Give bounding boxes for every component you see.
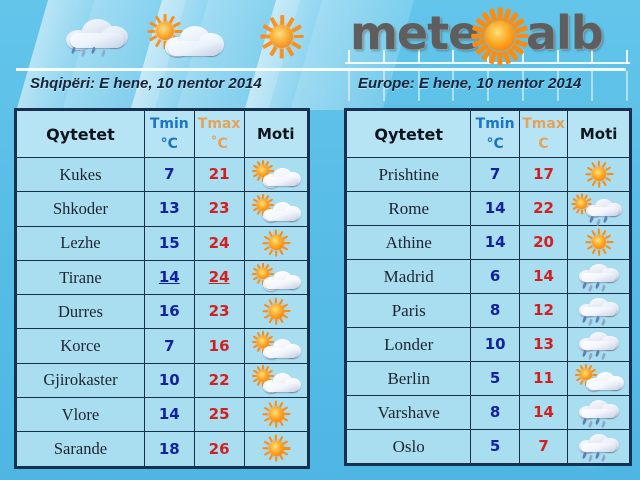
tmin-cell: 14: [144, 398, 194, 432]
tmin-value: 10: [485, 335, 506, 353]
tmin-value: 14: [159, 268, 180, 286]
column-header-city: Qytetet: [16, 110, 145, 158]
tmax-cell: 13: [519, 328, 567, 362]
tmin-value: 14: [159, 405, 180, 423]
tmax-value: 24: [209, 268, 230, 286]
tmin-cell: 13: [144, 192, 194, 226]
europe-table-body: Prishtine717Rome1422Athine1420Madrid614P…: [346, 158, 631, 465]
sun-rain-icon: [570, 194, 628, 224]
tmax-cell: 26: [194, 432, 244, 467]
tmin-value: 5: [490, 369, 500, 387]
column-header-moti: Moti: [568, 110, 631, 158]
tmin-value: 13: [159, 199, 180, 217]
europe-date-heading: Europe: E hene, 10 nentor 2014: [358, 75, 581, 92]
tmin-cell: 8: [471, 396, 519, 430]
city-label: Varshave: [378, 403, 440, 422]
city-label: Shkoder: [53, 199, 108, 218]
table-header-row: Qytetet Tmin °C Tmax C Moti: [346, 110, 631, 158]
tmin-value: 5: [490, 437, 500, 455]
partly-cloudy-icon: [247, 160, 305, 190]
city-label: Lezhe: [60, 233, 100, 252]
tmin-cell: 14: [471, 192, 519, 226]
tmax-cell: 22: [194, 363, 244, 397]
tmax-value: 24: [209, 234, 230, 252]
city-label: Kukes: [59, 165, 101, 184]
column-header-tmax: Tmax C: [519, 110, 567, 158]
table-row: Varshave814: [346, 396, 631, 430]
tmax-value: 23: [209, 302, 230, 320]
tmin-cell: 8: [471, 294, 519, 328]
weather-icon-cell: [244, 295, 308, 329]
tmin-value: 18: [159, 440, 180, 458]
table-row: Lezhe1524: [16, 226, 309, 260]
tmax-value: 21: [209, 165, 230, 183]
sun-icon: [247, 228, 305, 258]
city-cell: Sarande: [16, 432, 145, 467]
city-cell: Berlin: [346, 362, 471, 396]
tmax-cell: 17: [519, 158, 567, 192]
city-label: Madrid: [384, 267, 434, 286]
city-label: Prishtine: [378, 165, 438, 184]
tmax-cell: 25: [194, 398, 244, 432]
tmin-cell: 7: [144, 158, 194, 192]
rain-cloud-icon: [570, 262, 628, 292]
tmin-value: 6: [490, 267, 500, 285]
city-cell: Madrid: [346, 260, 471, 294]
city-label: Oslo: [393, 437, 425, 456]
tmin-cell: 14: [144, 260, 194, 294]
tmax-value: 25: [209, 405, 230, 423]
tmax-cell: 20: [519, 226, 567, 260]
table-row: Prishtine717: [346, 158, 631, 192]
tmax-value: 17: [533, 165, 554, 183]
tmax-value: 22: [533, 199, 554, 217]
city-cell: Londer: [346, 328, 471, 362]
rain-cloud-icon: [52, 16, 142, 63]
table-row: Sarande1826: [16, 432, 309, 467]
table-row: Oslo57: [346, 430, 631, 465]
partly-cloudy-icon: [140, 14, 230, 61]
tmax-cell: 23: [194, 295, 244, 329]
column-header-tmax: Tmax ˚C: [194, 110, 244, 158]
city-cell: Shkoder: [16, 192, 145, 226]
partly-cloudy-icon: [247, 331, 305, 361]
tmax-cell: 24: [194, 260, 244, 294]
city-label: Rome: [388, 199, 429, 218]
tmin-value: 8: [490, 403, 500, 421]
tmin-value: 16: [159, 302, 180, 320]
albania-table-body: Kukes721Shkoder1323Lezhe1524Tirane1424Du…: [16, 158, 309, 468]
rain-cloud-icon: [570, 330, 628, 360]
tmax-cell: 14: [519, 260, 567, 294]
weather-icon-cell: [568, 226, 631, 260]
column-header-tmin: Tmin °C: [471, 110, 519, 158]
tmax-cell: 22: [519, 192, 567, 226]
tmin-cell: 10: [471, 328, 519, 362]
rain-cloud-icon: [52, 16, 142, 63]
tmax-value: 22: [209, 371, 230, 389]
tmax-value: 11: [533, 369, 554, 387]
weather-icon-cell: [244, 329, 308, 363]
city-label: Londer: [384, 335, 433, 354]
sun-icon: [247, 400, 305, 430]
table-row: Athine1420: [346, 226, 631, 260]
weather-icon-cell: [568, 192, 631, 226]
table-row: Berlin511: [346, 362, 631, 396]
table-row: Kukes721: [16, 158, 309, 192]
table-row: Korce716: [16, 329, 309, 363]
albania-weather-table: Qytetet Tmin °C Tmax ˚C Moti Kukes721Shk…: [14, 108, 310, 469]
weather-icon-cell: [568, 430, 631, 465]
rain-cloud-icon: [570, 296, 628, 326]
rain-cloud-icon: [570, 432, 628, 462]
meteoalb-logo: mete alb: [350, 6, 630, 64]
tmin-cell: 14: [471, 226, 519, 260]
column-header-tmin: Tmin °C: [144, 110, 194, 158]
tmin-value: 10: [159, 371, 180, 389]
tmin-value: 7: [490, 165, 500, 183]
tmax-cell: 12: [519, 294, 567, 328]
weather-icon-cell: [244, 432, 308, 467]
sun-icon: [570, 228, 628, 258]
partly-cloudy-icon: [247, 194, 305, 224]
tmax-value: 20: [533, 233, 554, 251]
tmax-value: 14: [533, 267, 554, 285]
city-cell: Athine: [346, 226, 471, 260]
table-row: Durres1623: [16, 295, 309, 329]
tmax-value: 16: [209, 337, 230, 355]
city-label: Berlin: [387, 369, 430, 388]
tmax-value: 13: [533, 335, 554, 353]
weather-icon-cell: [244, 226, 308, 260]
tmin-value: 15: [159, 234, 180, 252]
city-label: Paris: [392, 301, 426, 320]
table-row: Paris812: [346, 294, 631, 328]
table-row: Madrid614: [346, 260, 631, 294]
tmax-cell: 24: [194, 226, 244, 260]
city-label: Sarande: [54, 439, 107, 458]
tmax-cell: 7: [519, 430, 567, 465]
weather-icon-cell: [244, 158, 308, 192]
city-cell: Durres: [16, 295, 145, 329]
tmax-value: 14: [533, 403, 554, 421]
sun-icon: [247, 434, 305, 464]
table-row: Londer1013: [346, 328, 631, 362]
weather-icon-cell: [244, 260, 308, 294]
weather-icon-cell: [568, 328, 631, 362]
tmin-value: 7: [164, 165, 174, 183]
tmax-cell: 11: [519, 362, 567, 396]
tmax-value: 26: [209, 440, 230, 458]
city-label: Athine: [386, 233, 432, 252]
tmin-cell: 5: [471, 362, 519, 396]
city-cell: Tirane: [16, 260, 145, 294]
city-cell: Korce: [16, 329, 145, 363]
tmin-cell: 5: [471, 430, 519, 465]
tmin-cell: 18: [144, 432, 194, 467]
logo-text-right: alb: [526, 6, 603, 60]
tmax-cell: 21: [194, 158, 244, 192]
europe-weather-table: Qytetet Tmin °C Tmax C Moti Prishtine717…: [344, 108, 632, 466]
albania-date-heading: Shqipëri: E hene, 10 nentor 2014: [30, 75, 262, 92]
city-label: Korce: [60, 336, 100, 355]
city-label: Gjirokaster: [43, 370, 117, 389]
tmin-value: 14: [485, 233, 506, 251]
tmin-cell: 10: [144, 363, 194, 397]
tmin-cell: 16: [144, 295, 194, 329]
logo-text-left: mete: [350, 6, 478, 60]
city-cell: Rome: [346, 192, 471, 226]
weather-icon-cell: [244, 363, 308, 397]
weather-icon-cell: [568, 260, 631, 294]
partly-cloudy-icon: [247, 365, 305, 395]
city-label: Tirane: [59, 268, 101, 287]
tmin-cell: 15: [144, 226, 194, 260]
tmin-cell: 7: [144, 329, 194, 363]
city-cell: Paris: [346, 294, 471, 328]
tmax-value: 7: [538, 437, 548, 455]
table-row: Vlore1425: [16, 398, 309, 432]
city-cell: Varshave: [346, 396, 471, 430]
column-header-city: Qytetet: [346, 110, 471, 158]
tmin-value: 7: [164, 337, 174, 355]
city-cell: Prishtine: [346, 158, 471, 192]
tmin-value: 14: [485, 199, 506, 217]
table-row: Tirane1424: [16, 260, 309, 294]
column-header-moti: Moti: [244, 110, 308, 158]
city-cell: Vlore: [16, 398, 145, 432]
tmin-cell: 7: [471, 158, 519, 192]
table-row: Shkoder1323: [16, 192, 309, 226]
sun-icon: [247, 297, 305, 327]
tmax-cell: 14: [519, 396, 567, 430]
tmax-value: 12: [533, 301, 554, 319]
city-cell: Lezhe: [16, 226, 145, 260]
sun-icon: [570, 160, 628, 190]
city-cell: Gjirokaster: [16, 363, 145, 397]
partly-cloudy-icon: [570, 364, 628, 394]
table-header-row: Qytetet Tmin °C Tmax ˚C Moti: [16, 110, 309, 158]
sun-icon: [236, 14, 326, 61]
tmin-value: 8: [490, 301, 500, 319]
table-row: Rome1422: [346, 192, 631, 226]
table-row: Gjirokaster1022: [16, 363, 309, 397]
weather-icon-cell: [568, 294, 631, 328]
tmax-cell: 23: [194, 192, 244, 226]
weather-icon-cell: [244, 192, 308, 226]
city-label: Vlore: [62, 405, 100, 424]
weather-icon-cell: [568, 362, 631, 396]
partly-cloudy-icon: [247, 263, 305, 293]
tmax-cell: 16: [194, 329, 244, 363]
sun-icon: [236, 14, 326, 61]
partly-cloudy-icon: [140, 14, 230, 61]
weather-icon-cell: [568, 396, 631, 430]
weather-icon-cell: [568, 158, 631, 192]
weather-icon-cell: [244, 398, 308, 432]
city-label: Durres: [58, 302, 103, 321]
tmax-value: 23: [209, 199, 230, 217]
city-cell: Oslo: [346, 430, 471, 465]
rain-cloud-icon: [570, 398, 628, 428]
city-cell: Kukes: [16, 158, 145, 192]
tmin-cell: 6: [471, 260, 519, 294]
